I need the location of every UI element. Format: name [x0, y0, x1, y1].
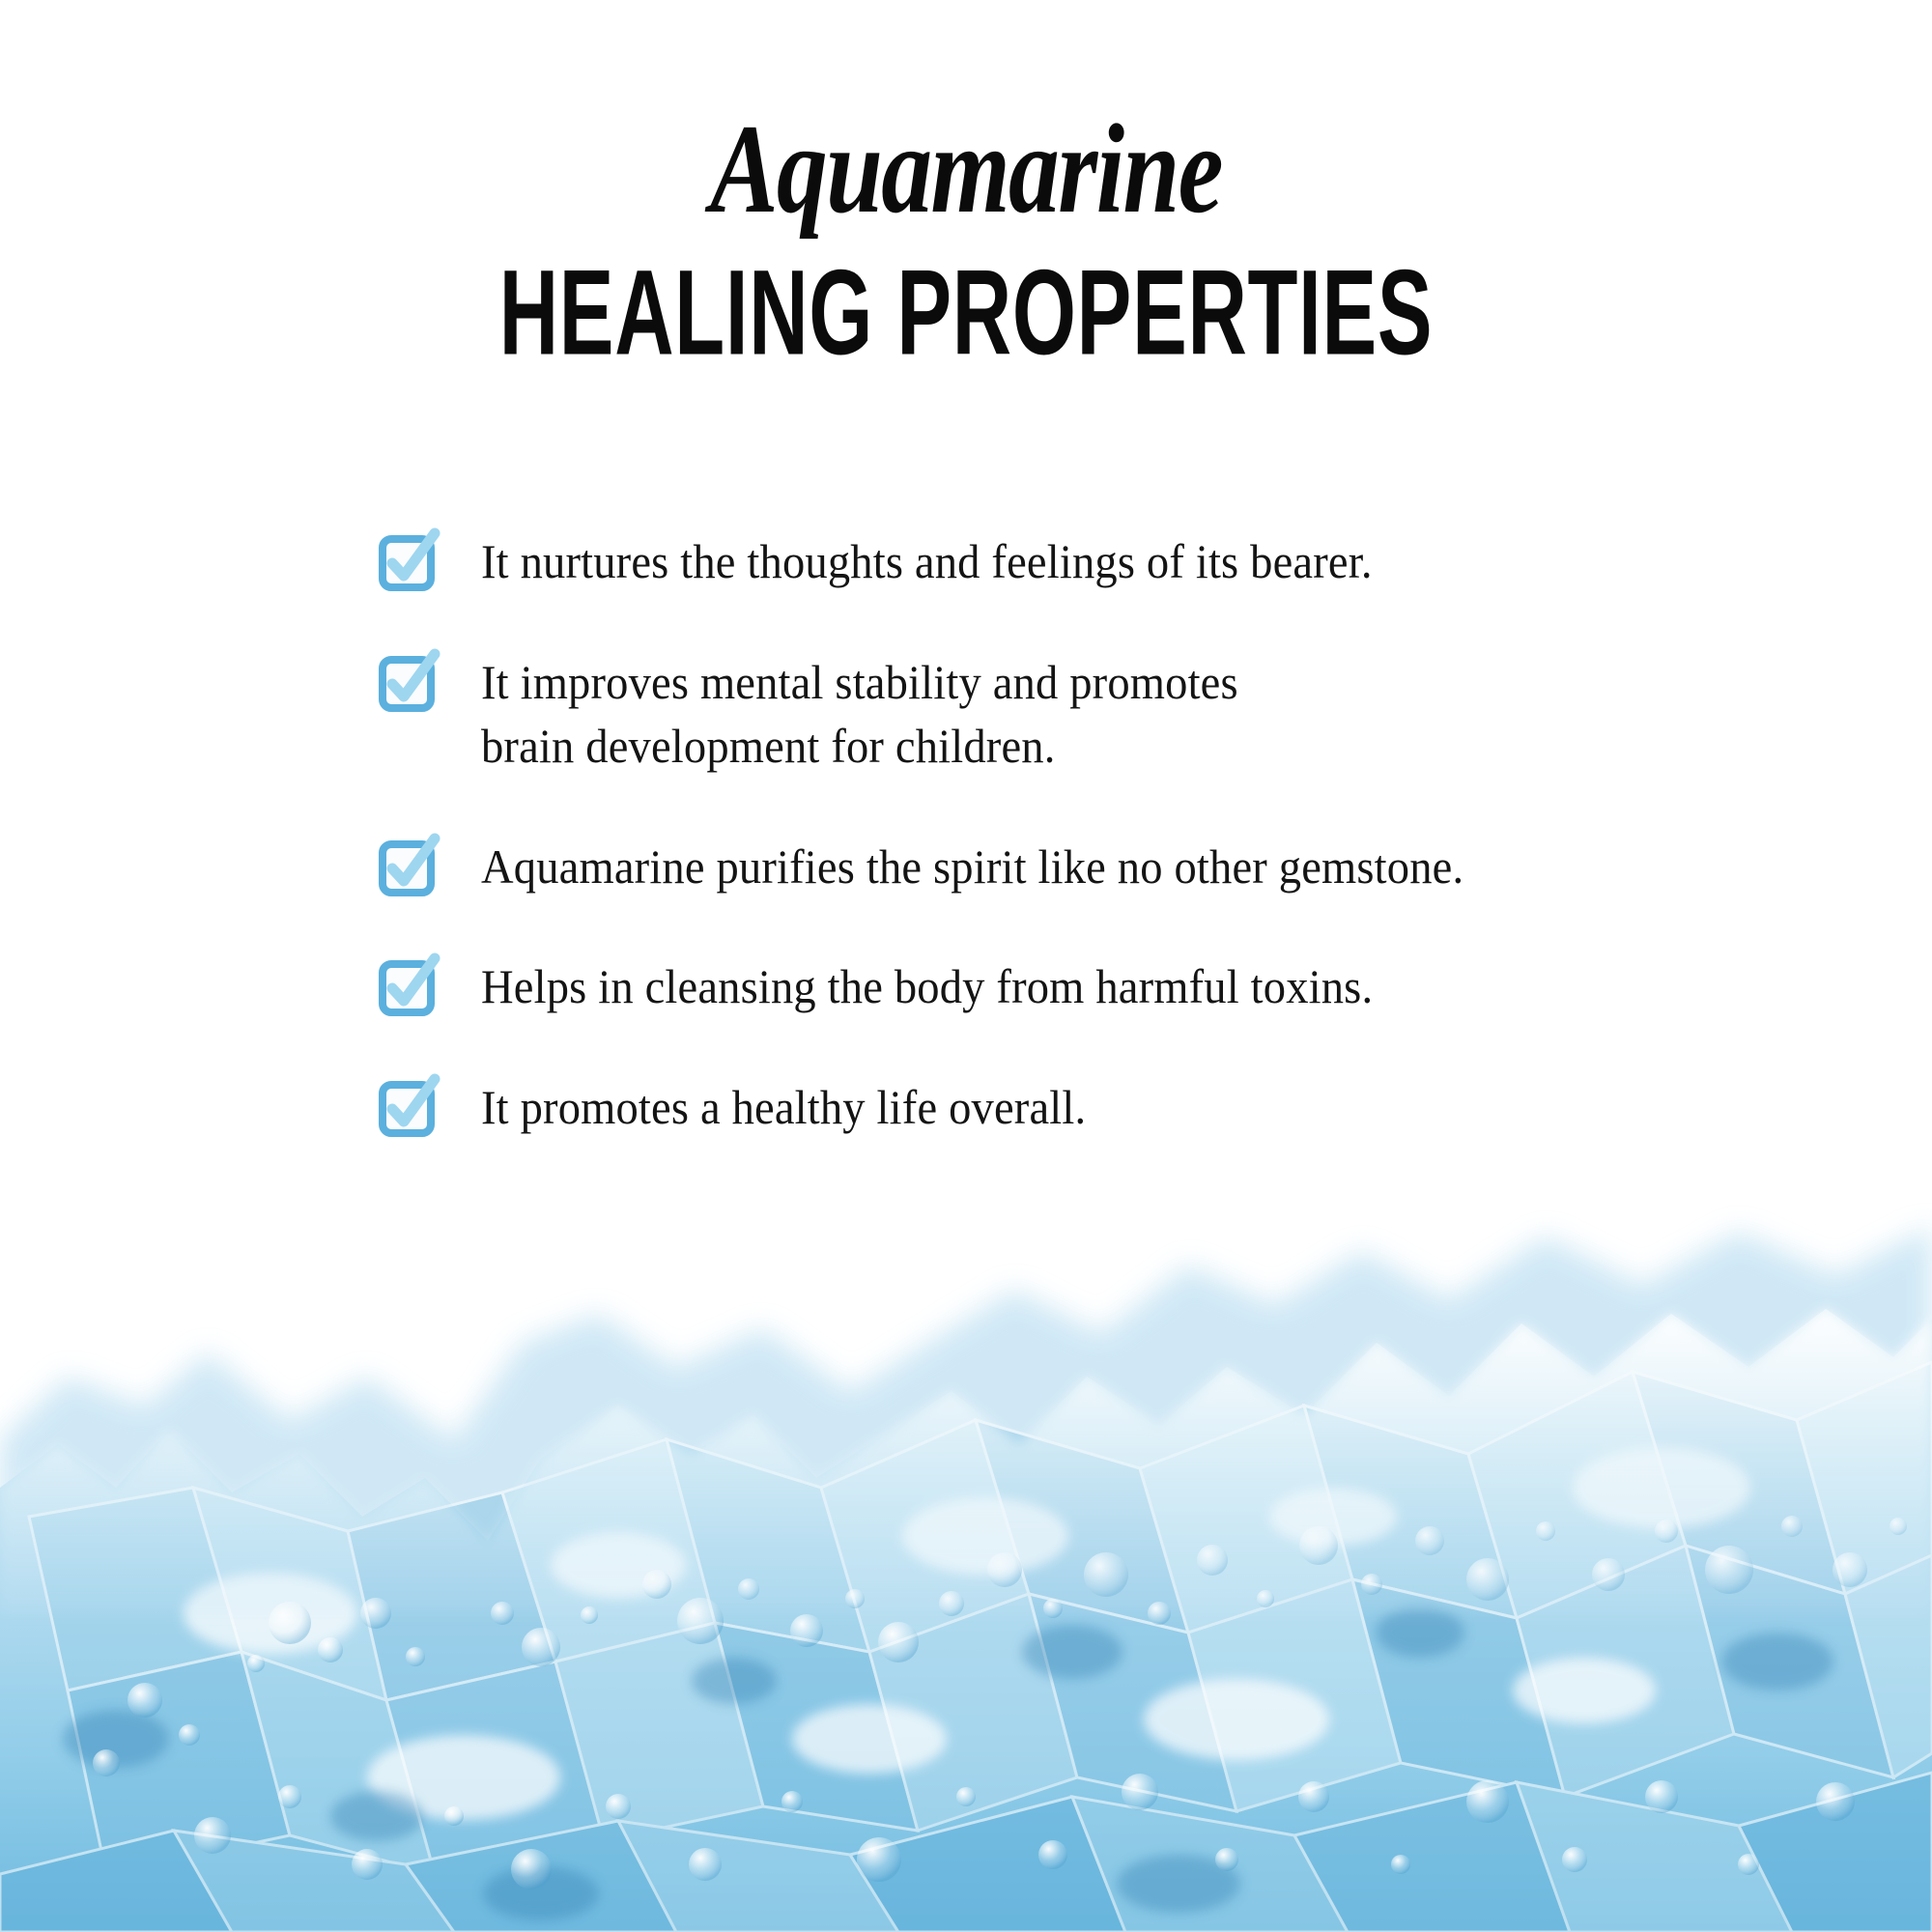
list-item: Helps in cleansing the body from harmful… — [379, 954, 1886, 1019]
list-item-label: It promotes a healthy life overall. — [481, 1075, 1787, 1140]
list-item-label: Aquamarine purifies the spirit like no o… — [481, 835, 1787, 899]
header: Aquamarine HEALING PROPERTIES — [0, 104, 1932, 370]
checkbox-checked-icon — [379, 652, 439, 712]
page-title-script: Aquamarine — [193, 104, 1739, 235]
list-item-label: Helps in cleansing the body from harmful… — [481, 954, 1787, 1019]
healing-properties-list: It nurtures the thoughts and feelings of… — [379, 529, 1886, 1139]
checkbox-checked-icon — [379, 956, 439, 1016]
list-item: Aquamarine purifies the spirit like no o… — [379, 835, 1886, 899]
list-item-label: It nurtures the thoughts and feelings of… — [481, 529, 1787, 594]
poster-canvas: Aquamarine HEALING PROPERTIES It nurture… — [0, 0, 1932, 1932]
page-subtitle-block: HEALING PROPERTIES — [270, 252, 1662, 373]
checkbox-checked-icon — [379, 1077, 439, 1137]
checkbox-checked-icon — [379, 837, 439, 896]
checkbox-checked-icon — [379, 531, 439, 591]
list-item: It promotes a healthy life overall. — [379, 1075, 1886, 1140]
list-item-label: It improves mental stability and promote… — [481, 650, 1787, 779]
list-item: It improves mental stability and promote… — [379, 650, 1886, 779]
ice-cubes-photo — [0, 1198, 1932, 1932]
list-item: It nurtures the thoughts and feelings of… — [379, 529, 1886, 594]
